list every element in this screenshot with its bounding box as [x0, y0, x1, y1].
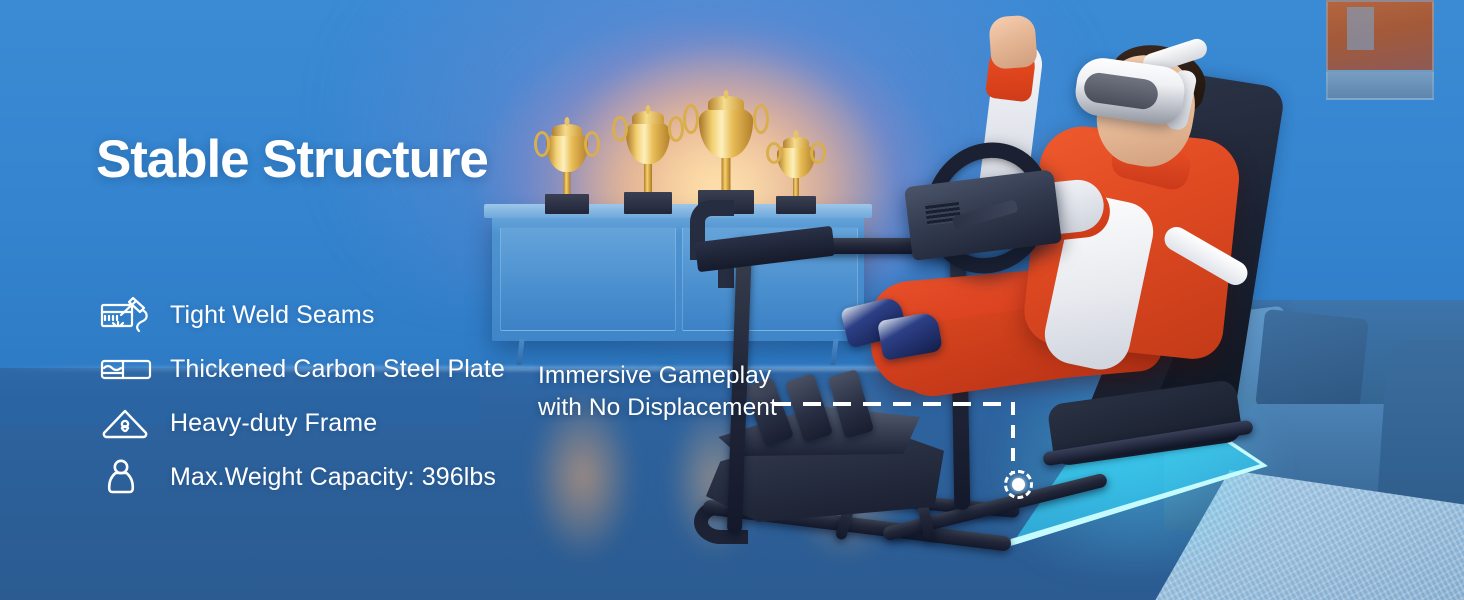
immersive-gameplay-callout: Immersive Gameplay with No Displacement	[538, 360, 777, 425]
feature-label: Max.Weight Capacity: 396lbs	[170, 463, 496, 492]
feature-item-weight-capacity: Max.Weight Capacity: 396lbs	[98, 450, 518, 504]
sofa-armrest	[1376, 340, 1464, 520]
feature-label: Tight Weld Seams	[170, 301, 374, 330]
callout-line-1: Immersive Gameplay	[538, 360, 777, 392]
leader-line-vertical	[1011, 402, 1015, 474]
trophy	[536, 118, 598, 214]
cabinet-door-left	[500, 227, 676, 331]
heavy-duty-frame-icon	[98, 403, 156, 443]
feature-item-heavy-duty-frame: Heavy-duty Frame	[98, 396, 518, 450]
feature-item-weld-seams: Tight Weld Seams	[98, 288, 518, 342]
steel-plate-icon	[98, 349, 156, 389]
frame-corner-right	[690, 244, 734, 288]
artwork-mat	[1326, 70, 1434, 100]
leader-line-horizontal	[773, 402, 1013, 406]
trophy	[615, 100, 681, 214]
page-title: Stable Structure	[96, 133, 488, 186]
product-feature-banner: Stable Structure Tight Weld Seams	[0, 0, 1464, 600]
target-marker	[1004, 470, 1033, 499]
feature-label: Thickened Carbon Steel Plate	[170, 355, 505, 384]
feature-item-steel-plate: Thickened Carbon Steel Plate	[98, 342, 518, 396]
frame-corner-left	[690, 200, 734, 244]
callout-line-2: with No Displacement	[538, 392, 777, 424]
wall-artwork	[1326, 0, 1434, 72]
weight-capacity-icon	[98, 457, 156, 497]
feature-label: Heavy-duty Frame	[170, 409, 377, 438]
target-dot	[1012, 478, 1025, 491]
player-fist	[988, 14, 1038, 69]
feature-list: Tight Weld Seams Thickened Carbon Steel …	[98, 288, 518, 504]
trophy	[687, 86, 765, 214]
player	[860, 10, 1290, 530]
welding-torch-icon	[98, 295, 156, 335]
